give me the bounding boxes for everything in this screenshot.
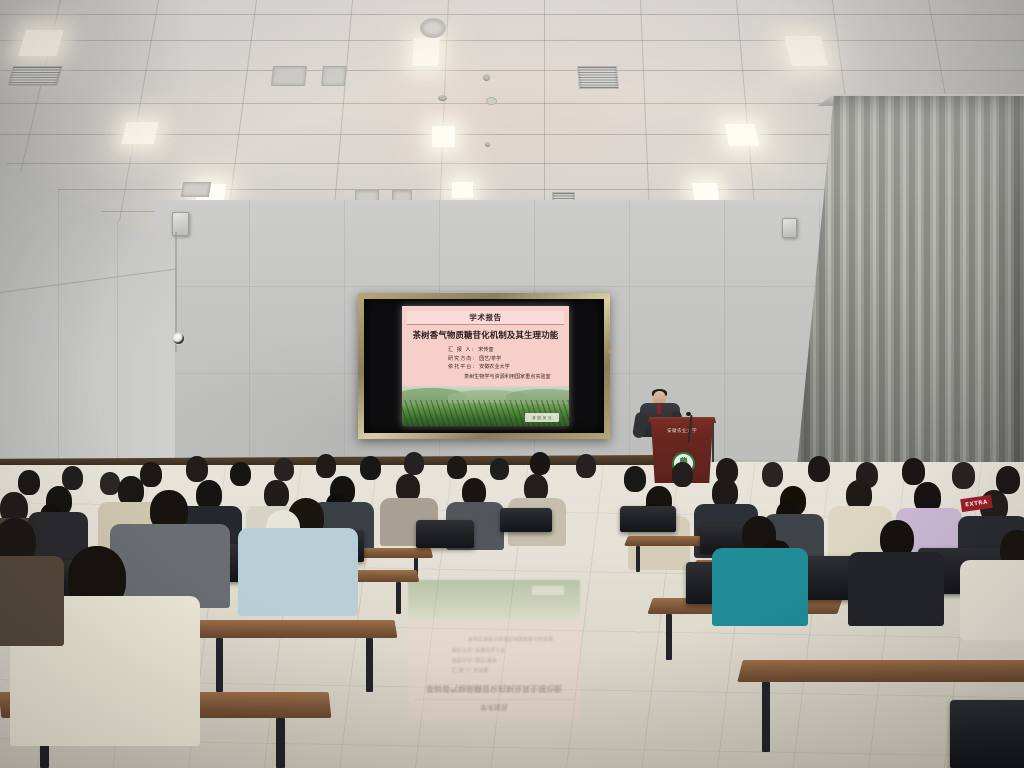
person-torso (712, 548, 808, 626)
slide-meta-label: 研究方向: (448, 355, 475, 364)
chair (620, 506, 676, 532)
desk-leg (666, 614, 672, 660)
photo-caption-text: 茶 园 风 光 (532, 415, 552, 420)
person-head (996, 466, 1020, 494)
presentation-slide: 学术报告 茶树香气物质糖苷化机制及其生理功能 汇 报 人: 宋传奎 研究方向: … (402, 306, 569, 426)
sprinkler-head-icon (438, 95, 447, 101)
person-head (360, 456, 381, 480)
ceiling-round-diffuser-icon (420, 18, 446, 38)
sprinkler-head-icon (485, 142, 490, 147)
air-vent-icon (271, 66, 307, 86)
jacket-patch-text: EXTRA (965, 499, 988, 508)
slide-meta-row: 依托平台: 安徽农业大学 (448, 363, 510, 372)
desk-leg (366, 638, 373, 692)
slide-meta-value: 安徽农业大学 (479, 363, 510, 372)
reflection-meta-row: 研究方向: 园艺/茶学 (452, 654, 505, 664)
slide-title: 茶树香气物质糖苷化机制及其生理功能 (406, 329, 565, 341)
desk (195, 620, 398, 638)
smoke-detector-icon (486, 97, 497, 105)
slide-meta-label: 依托平台: (448, 363, 475, 372)
ceiling-panel-light (784, 36, 827, 66)
slide-meta-value: 宋传奎 (478, 346, 493, 355)
person-head (62, 466, 83, 490)
person-head (18, 470, 40, 495)
reflection-title: 茶树香气物质糖苷化机制及其生理功能 (412, 683, 576, 694)
screen-side-badge: 4 信 (608, 349, 616, 355)
air-vent-icon (7, 66, 63, 86)
ceiling-panel-light (122, 122, 159, 144)
ceiling-panel-light (432, 126, 455, 147)
ceiling-panel-light (725, 124, 759, 146)
air-vent-icon (577, 66, 619, 89)
person-head (576, 454, 596, 478)
chair (950, 700, 1024, 768)
speaker-tie (657, 404, 661, 414)
ceiling-panel-light (412, 38, 439, 66)
person-head (274, 458, 294, 481)
person-head (490, 458, 509, 480)
person-torso (848, 552, 944, 626)
reflection-header-text: 学术报告 (480, 702, 508, 712)
person-torso (0, 556, 64, 646)
person-head (100, 472, 120, 495)
ceiling-panel-light (452, 182, 473, 198)
desk-leg (396, 582, 401, 614)
chair (416, 520, 474, 548)
desk-leg (216, 638, 223, 692)
reflection-meta-label: 依托平台: (452, 646, 474, 652)
ceiling-panel-light (18, 30, 63, 56)
slide-tea-field-photo: 茶 园 风 光 (402, 386, 569, 426)
lecture-hall-photo: 学术报告 茶树香气物质糖苷化机制及其生理功能 汇 报 人: 宋传奎 研究方向: … (0, 0, 1024, 768)
slide-meta-row: 研究方向: 园艺/茶学 (448, 355, 510, 364)
person-head (902, 458, 925, 485)
slide-meta-list: 汇 报 人: 宋传奎 研究方向: 园艺/茶学 依托平台: 安徽农业大学 (448, 346, 510, 372)
wall-speaker-icon (782, 218, 797, 238)
reflection-photo-badge (532, 586, 564, 595)
person-head (952, 462, 975, 489)
photo-caption-badge: 茶 园 风 光 (525, 413, 559, 422)
slide-meta-value: 园艺/茶学 (479, 355, 501, 364)
reflection-lab-line: 茶树生物学与资源利用国家重点实验室 (468, 635, 553, 642)
person-head (762, 462, 783, 487)
air-vent-icon (181, 182, 211, 197)
ceiling-panel-light (692, 183, 719, 200)
person-head (316, 454, 336, 478)
slide-header-band: 学术报告 (407, 311, 564, 325)
person-head (808, 456, 830, 482)
desk-leg (276, 718, 285, 768)
person-head (230, 462, 251, 486)
desk-leg (636, 546, 640, 572)
reflection-header: 学术报告 (414, 699, 574, 714)
ceiling-grid-line (544, 0, 545, 232)
reflection-slide-body: 学术报告 茶树香气物质糖苷化机制及其生理功能 汇 报 人: 宋传奎 研究方向: … (408, 580, 580, 720)
reflection-meta-row: 汇 报 人: 宋传奎 (452, 664, 505, 674)
desk-leg (762, 682, 770, 752)
chair (500, 508, 552, 532)
person-head (530, 452, 550, 475)
person-head (264, 480, 289, 509)
reflection-photo (408, 580, 580, 620)
person-head (624, 466, 646, 492)
slide-meta-row: 汇 报 人: 宋传奎 (448, 346, 510, 355)
led-display-panel[interactable]: 学术报告 茶树香气物质糖苷化机制及其生理功能 汇 报 人: 宋传奎 研究方向: … (364, 299, 604, 433)
sprinkler-head-icon (483, 74, 490, 81)
slide-header-text: 学术报告 (469, 312, 501, 323)
security-camera-icon (172, 332, 185, 345)
person-torso (960, 560, 1024, 640)
reflection-meta: 汇 报 人: 宋传奎 研究方向: 园艺/茶学 依托平台: 安徽农业大学 (452, 644, 505, 674)
reflection-meta-row: 依托平台: 安徽农业大学 (452, 644, 505, 654)
person-head (404, 452, 424, 475)
led-display-frame: 学术报告 茶树香气物质糖苷化机制及其生理功能 汇 报 人: 宋传奎 研究方向: … (358, 293, 610, 439)
reflection-meta-label: 汇 报 人: (452, 666, 472, 672)
person-torso (238, 528, 358, 616)
slide-floor-reflection: 学术报告 茶树香气物质糖苷化机制及其生理功能 汇 报 人: 宋传奎 研究方向: … (408, 580, 580, 720)
person-head (186, 456, 208, 482)
person-head (447, 456, 467, 479)
person-head (140, 462, 162, 487)
reflection-meta-value: 宋传奎 (473, 666, 488, 672)
microphone-head-icon (686, 412, 691, 416)
reflection-meta-label: 研究方向: (452, 656, 474, 662)
air-vent-icon (321, 66, 347, 86)
slide-lab-line: 茶树生物学与资源利用国家重点实验室 (464, 373, 551, 380)
reflection-meta-value: 园艺/茶学 (475, 656, 497, 662)
desk (737, 660, 1024, 682)
podium-institution-text: 安徽农业大学 (656, 428, 708, 434)
person-head (672, 462, 693, 487)
slide-meta-label: 汇 报 人: (448, 346, 474, 355)
reflection-meta-value: 安徽农业大学 (475, 646, 505, 652)
